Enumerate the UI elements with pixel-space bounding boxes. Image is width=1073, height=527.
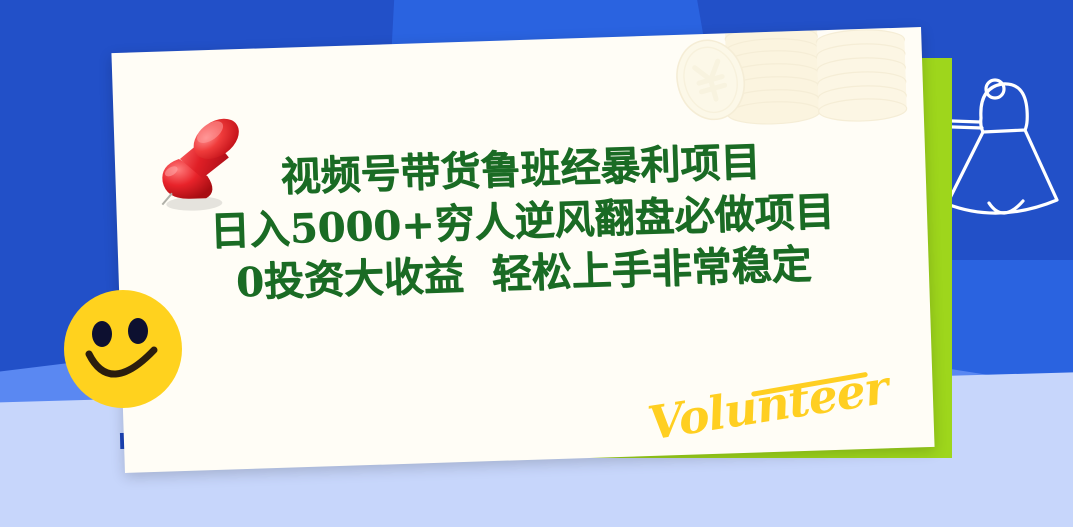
- poster-canvas: 视频号带货鲁班经暴利项目 日入5000+穷人逆风翻盘必做项目 0投资大收益 轻松…: [0, 0, 1073, 527]
- volunteer-script-label: Volunteer: [645, 360, 892, 451]
- headline-block: 视频号带货鲁班经暴利项目 日入5000+穷人逆风翻盘必做项目 0投资大收益 轻松…: [115, 131, 930, 313]
- hanging-lamp-icon: [939, 58, 1073, 218]
- white-paper-card: 视频号带货鲁班经暴利项目 日入5000+穷人逆风翻盘必做项目 0投资大收益 轻松…: [111, 27, 934, 473]
- coin-stack-icon: [653, 27, 917, 150]
- smiley-face-icon: [62, 288, 184, 410]
